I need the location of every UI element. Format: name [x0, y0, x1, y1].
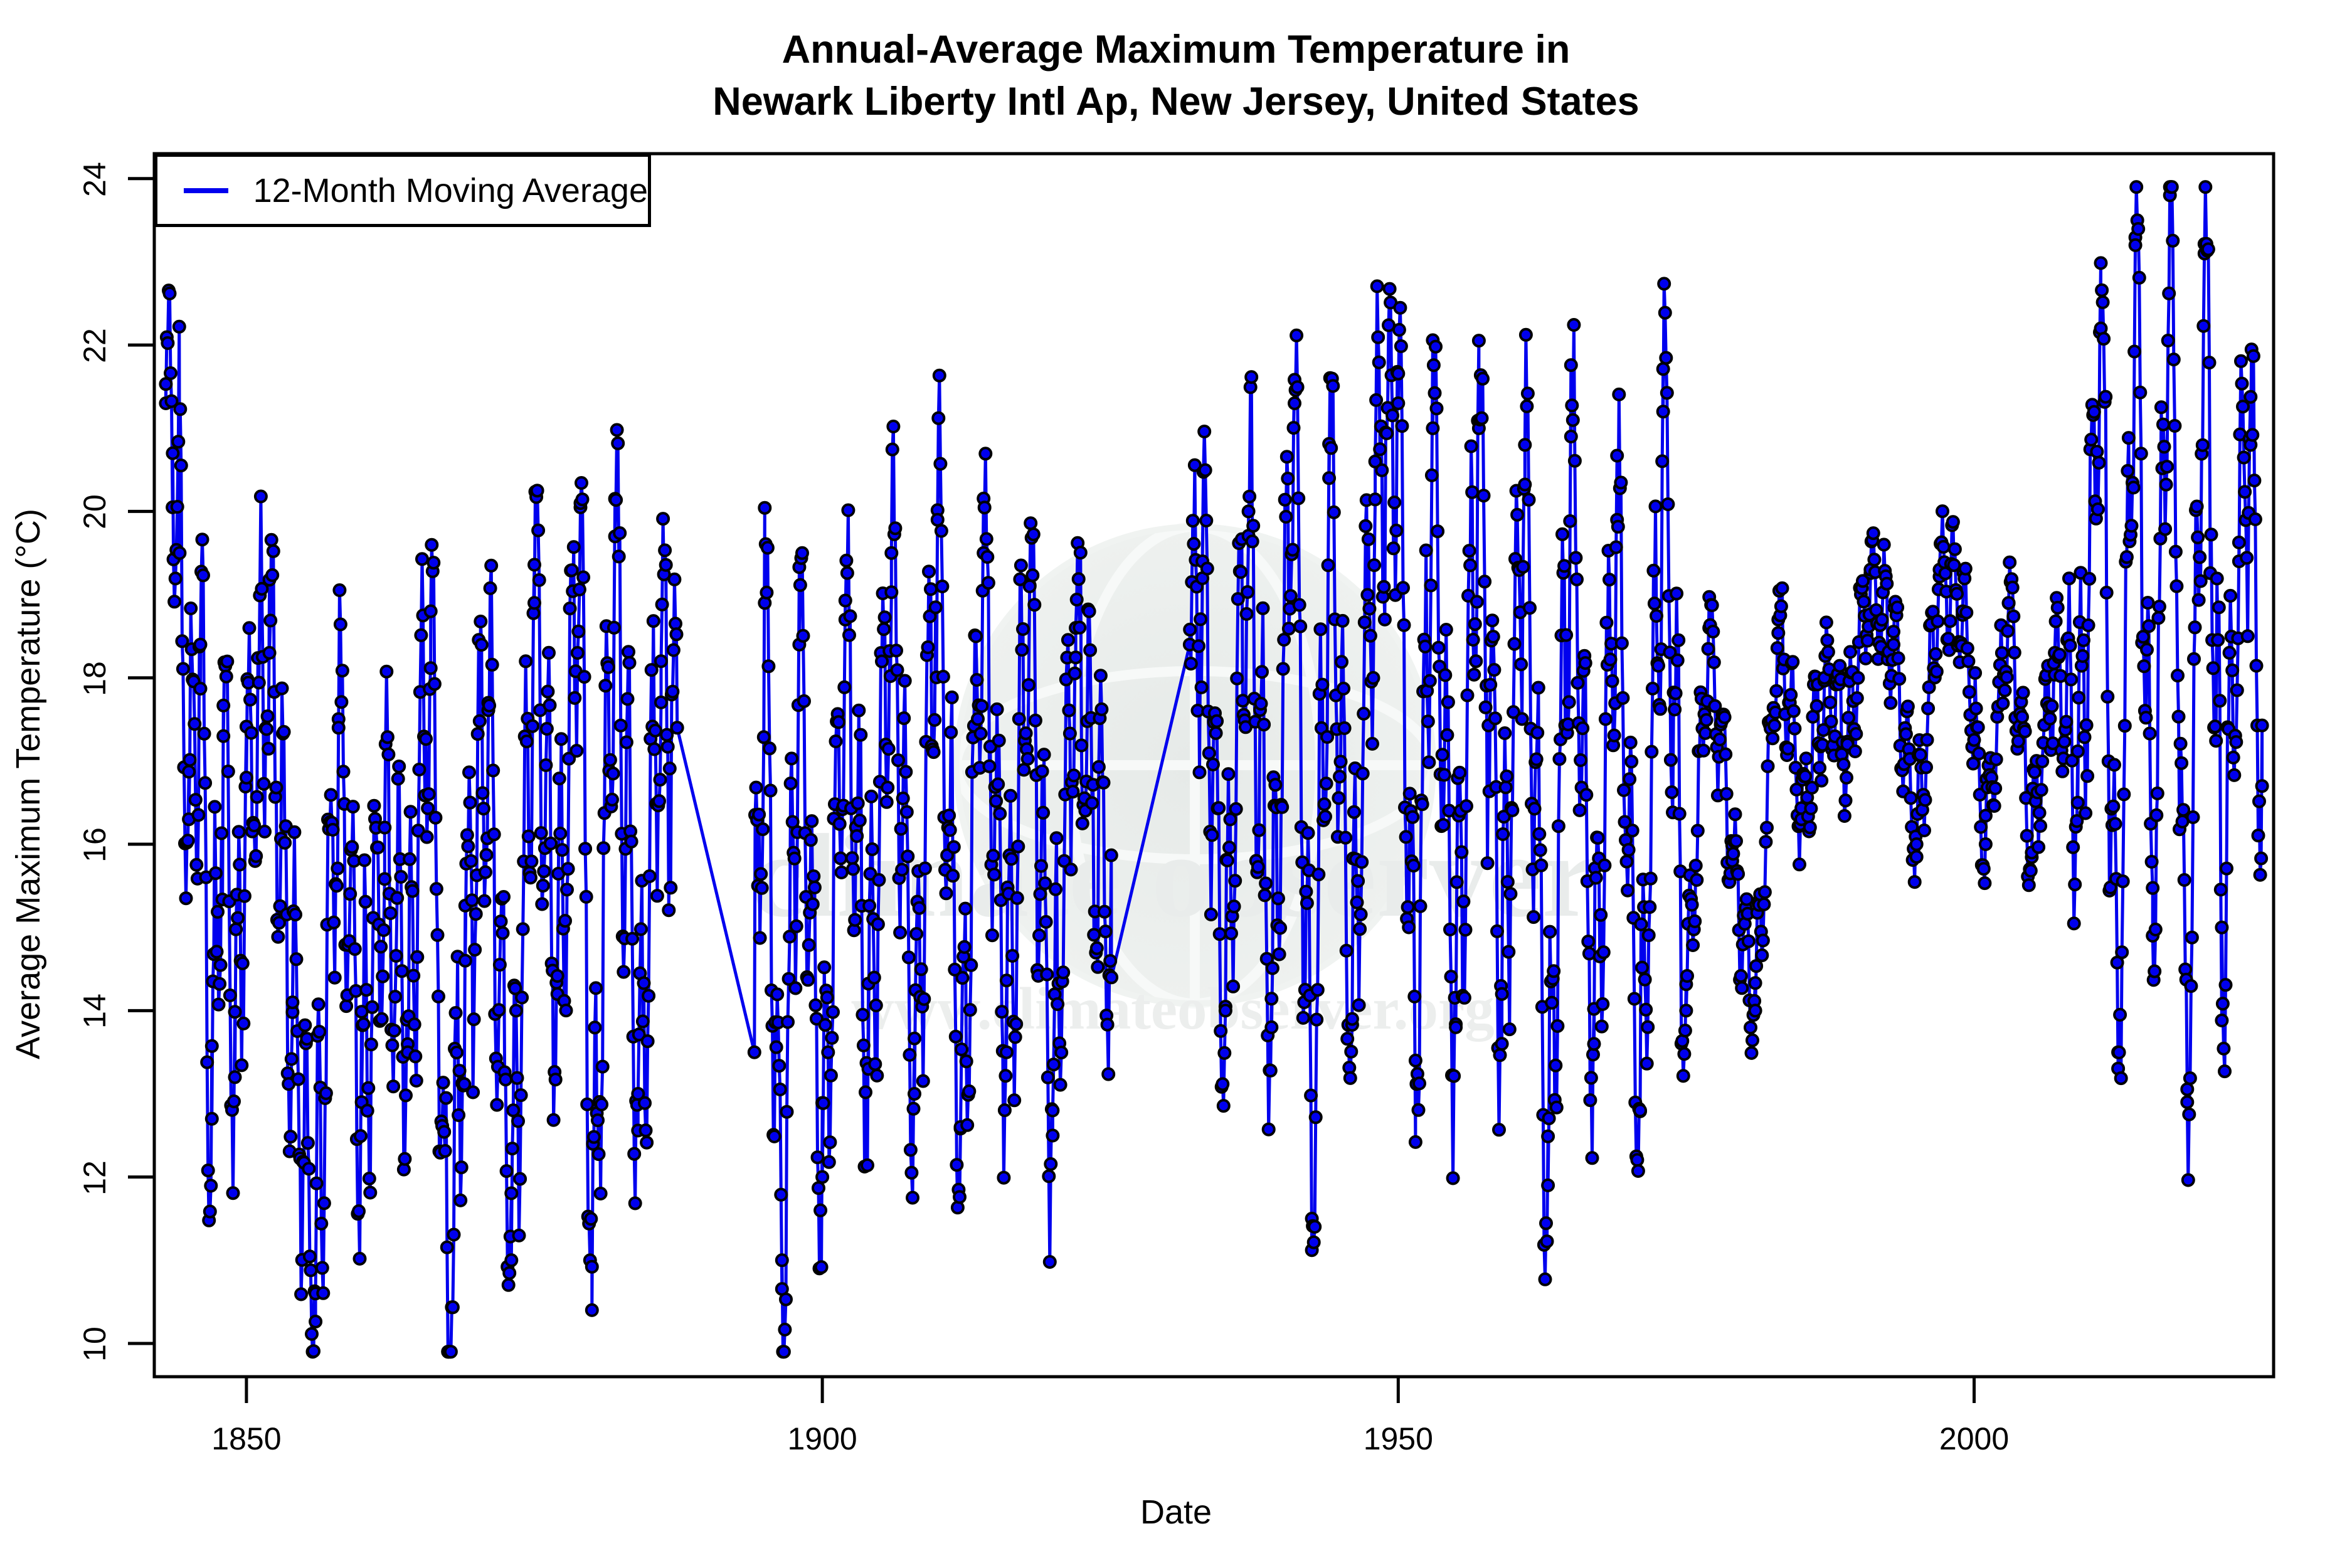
data-point — [1574, 805, 1586, 816]
data-point — [904, 1049, 915, 1061]
data-point — [825, 1070, 837, 1081]
data-point — [1478, 490, 1490, 501]
data-point — [1587, 1152, 1598, 1163]
data-point — [665, 882, 676, 893]
data-point — [1396, 341, 1407, 352]
data-point — [2082, 770, 2093, 781]
data-point — [1893, 652, 1904, 664]
data-point — [1345, 1073, 1356, 1084]
data-point — [267, 569, 278, 581]
data-point — [541, 723, 553, 734]
data-point — [410, 1051, 421, 1062]
data-point — [1613, 521, 1624, 532]
data-point — [600, 680, 611, 691]
y-axis-ticks — [128, 179, 154, 1343]
data-point — [589, 1022, 600, 1033]
data-point — [762, 542, 773, 553]
data-point — [1535, 844, 1546, 856]
data-point — [2194, 551, 2205, 563]
data-point — [319, 1197, 330, 1209]
data-point — [2167, 235, 2178, 246]
data-point — [827, 1007, 839, 1018]
data-point — [290, 909, 301, 920]
data-point — [1964, 686, 1975, 697]
data-point — [798, 696, 810, 707]
data-point — [1005, 790, 1016, 802]
data-point — [536, 899, 548, 910]
data-point — [295, 1289, 307, 1300]
data-point — [183, 766, 194, 777]
data-point — [597, 1061, 608, 1073]
data-point — [1407, 812, 1418, 823]
data-point — [268, 546, 279, 557]
data-point — [1415, 901, 1426, 912]
data-point — [479, 896, 490, 907]
data-point — [1569, 455, 1581, 467]
data-point — [903, 952, 914, 963]
data-point — [355, 1130, 366, 1142]
data-point — [1029, 599, 1040, 610]
data-point — [388, 1081, 399, 1092]
data-point — [1315, 623, 1326, 635]
data-point — [2203, 243, 2214, 255]
data-point — [266, 534, 277, 546]
data-point — [232, 913, 243, 924]
data-point — [209, 801, 220, 812]
data-point — [2254, 796, 2265, 807]
data-point — [252, 792, 263, 803]
data-point — [265, 615, 276, 626]
data-point — [2173, 711, 2185, 723]
data-point — [1260, 878, 1271, 889]
data-point — [2154, 601, 2165, 612]
data-point — [1305, 1090, 1316, 1101]
data-point — [1932, 616, 1943, 627]
data-point — [898, 712, 909, 724]
data-point — [842, 505, 854, 516]
data-point — [478, 803, 489, 814]
data-point — [918, 993, 930, 1005]
data-point — [303, 1163, 314, 1175]
data-point — [1544, 926, 1555, 938]
data-point — [2179, 874, 2190, 886]
data-point — [272, 931, 283, 943]
data-point — [1641, 1058, 1653, 1069]
data-point — [1888, 626, 1899, 637]
data-point — [1300, 886, 1311, 898]
data-point — [1451, 877, 1463, 888]
data-point — [1821, 617, 1832, 628]
data-point — [310, 1316, 321, 1327]
data-point — [1611, 450, 1623, 462]
data-point — [2023, 879, 2035, 891]
data-point — [1698, 745, 1709, 756]
data-point — [1656, 455, 1668, 467]
data-point — [1488, 664, 1500, 675]
data-point — [630, 1198, 641, 1209]
data-point — [336, 696, 347, 707]
data-point — [608, 768, 619, 779]
data-point — [1291, 330, 1302, 341]
data-point — [529, 559, 540, 570]
data-point — [453, 1110, 464, 1121]
data-point — [992, 779, 1004, 790]
data-point — [946, 692, 958, 703]
data-point — [979, 502, 990, 513]
data-point — [860, 1087, 871, 1098]
data-point — [2033, 842, 2044, 853]
data-point — [287, 997, 298, 1008]
data-point — [585, 1213, 596, 1224]
data-point — [833, 716, 844, 728]
data-point — [669, 574, 680, 585]
data-point — [1256, 698, 1267, 709]
data-point — [1552, 1020, 1563, 1032]
data-point — [2183, 1109, 2195, 1120]
data-point — [230, 1071, 241, 1083]
data-point — [421, 832, 433, 843]
data-point — [206, 1041, 218, 1052]
data-point — [2116, 946, 2127, 958]
data-point — [169, 596, 180, 607]
data-point — [526, 856, 537, 867]
data-point — [983, 761, 995, 772]
data-point — [469, 1014, 480, 1025]
legend-label: 12-Month Moving Average — [253, 171, 648, 210]
data-point — [2210, 735, 2222, 746]
data-point — [467, 1087, 479, 1098]
data-point — [1276, 802, 1288, 813]
data-point — [1730, 808, 1741, 820]
data-point — [588, 1131, 600, 1143]
data-point — [1850, 728, 1862, 739]
data-point — [765, 785, 776, 797]
data-point — [485, 583, 496, 594]
data-point — [2007, 582, 2018, 593]
data-point — [2210, 721, 2221, 732]
data-point — [2242, 630, 2254, 642]
data-point — [586, 1261, 598, 1273]
data-point — [2253, 830, 2264, 841]
data-point — [1750, 977, 1761, 988]
data-point — [1016, 644, 1027, 655]
data-point — [2195, 576, 2206, 587]
data-point — [886, 548, 897, 559]
data-point — [1077, 818, 1088, 829]
data-point — [506, 1188, 517, 1199]
data-point — [381, 666, 392, 677]
data-point — [1258, 603, 1269, 614]
data-point — [981, 533, 992, 544]
data-point — [998, 1172, 1009, 1184]
data-point — [755, 869, 766, 880]
data-point — [1482, 857, 1493, 869]
data-point — [2072, 797, 2084, 808]
data-point — [534, 575, 545, 586]
data-point — [1309, 1221, 1320, 1232]
data-point — [238, 1018, 249, 1029]
data-point — [1086, 797, 1098, 808]
data-point — [167, 448, 178, 459]
data-point — [462, 829, 473, 840]
data-point — [1335, 756, 1347, 767]
data-point — [1319, 798, 1330, 810]
data-point — [876, 656, 887, 667]
data-point — [199, 777, 211, 788]
data-point — [556, 733, 567, 744]
data-point — [1093, 761, 1104, 773]
data-point — [199, 728, 210, 739]
data-point — [641, 1137, 652, 1148]
data-point — [1039, 749, 1050, 760]
data-point — [1759, 886, 1771, 898]
data-point — [2192, 532, 2203, 543]
data-point — [426, 539, 437, 551]
data-point — [253, 677, 265, 688]
data-point — [1429, 388, 1441, 399]
data-point — [643, 990, 654, 1002]
data-point — [815, 1205, 826, 1216]
data-point — [1367, 738, 1378, 750]
data-point — [366, 1039, 377, 1050]
data-point — [1504, 1024, 1515, 1035]
data-point — [1741, 894, 1752, 905]
data-point — [185, 603, 196, 614]
data-point — [1476, 413, 1488, 424]
data-point — [2065, 640, 2076, 651]
data-point — [1076, 740, 1087, 751]
data-point — [1184, 624, 1195, 635]
data-point — [1811, 701, 1823, 712]
data-point — [755, 933, 766, 944]
data-point — [1480, 702, 1491, 713]
data-point — [2063, 573, 2075, 584]
data-point — [160, 378, 171, 389]
data-point — [404, 854, 415, 865]
data-point — [375, 941, 386, 952]
data-point — [1044, 1256, 1056, 1268]
data-point — [214, 978, 225, 990]
data-point — [1414, 1078, 1425, 1089]
data-point — [662, 741, 674, 753]
data-point — [1456, 847, 1467, 858]
data-point — [1020, 728, 1032, 739]
data-point — [2216, 1015, 2227, 1026]
data-point — [802, 974, 813, 985]
data-point — [500, 1074, 511, 1085]
data-point — [994, 808, 1005, 819]
data-point — [626, 836, 637, 847]
data-point — [480, 867, 491, 878]
data-point — [1195, 613, 1206, 625]
data-point — [1437, 749, 1448, 760]
data-point — [871, 1070, 882, 1081]
data-point — [667, 686, 678, 697]
data-point — [1439, 769, 1450, 780]
data-point — [1347, 1014, 1358, 1025]
data-point — [1338, 683, 1349, 694]
data-point — [790, 983, 801, 994]
data-point — [839, 682, 850, 693]
data-point — [894, 927, 906, 938]
data-point — [586, 1305, 598, 1316]
data-point — [213, 999, 225, 1010]
data-point — [918, 1076, 929, 1087]
data-point — [1364, 603, 1375, 615]
data-point — [847, 864, 859, 875]
data-point — [1598, 946, 1609, 958]
data-point — [2172, 670, 2183, 681]
data-point — [1851, 692, 1863, 704]
data-point — [184, 755, 196, 766]
data-point — [1325, 442, 1337, 453]
data-point — [1256, 666, 1268, 677]
data-point — [1604, 574, 1615, 585]
data-point — [2078, 635, 2089, 646]
data-point — [2143, 597, 2154, 608]
data-point — [851, 830, 862, 842]
data-point — [1458, 896, 1469, 907]
data-point — [399, 1153, 410, 1165]
data-point — [1868, 554, 1880, 565]
data-point — [1323, 559, 1334, 571]
data-point — [259, 826, 270, 837]
data-point — [2228, 752, 2239, 763]
data-point — [1692, 825, 1703, 837]
data-point — [197, 534, 208, 545]
data-point — [1287, 544, 1298, 556]
data-point — [363, 1083, 374, 1094]
data-point — [498, 891, 509, 903]
data-point — [930, 601, 941, 613]
data-point — [286, 1054, 297, 1065]
x-axis-ticks — [246, 1377, 1974, 1403]
data-point — [520, 655, 531, 667]
data-point — [2188, 654, 2200, 665]
data-point — [2171, 581, 2182, 592]
data-point — [1388, 543, 1399, 554]
data-point — [976, 701, 987, 712]
data-point — [1888, 639, 1899, 650]
data-point — [990, 795, 1002, 807]
data-point — [646, 664, 657, 675]
data-point — [1595, 909, 1606, 921]
data-point — [1905, 792, 1917, 803]
data-point — [225, 990, 236, 1001]
data-point — [779, 1324, 790, 1335]
data-point — [1465, 559, 1476, 571]
data-point — [472, 728, 484, 739]
data-point — [612, 425, 623, 436]
data-point — [1399, 620, 1410, 631]
data-point — [655, 774, 666, 785]
data-point — [2255, 869, 2266, 881]
data-point — [1497, 829, 1508, 840]
data-point — [1204, 748, 1215, 759]
data-point — [164, 288, 176, 299]
data-point — [420, 733, 432, 744]
data-point — [943, 810, 955, 821]
data-point — [1687, 899, 1698, 911]
data-point — [753, 809, 765, 820]
data-point — [1682, 970, 1693, 982]
data-point — [1246, 371, 1257, 383]
data-point — [1843, 712, 1854, 723]
data-point — [761, 587, 772, 598]
data-point — [2134, 387, 2146, 398]
data-point — [1522, 388, 1534, 399]
data-point — [203, 1165, 214, 1176]
data-point — [389, 991, 401, 1002]
data-point — [379, 822, 390, 834]
data-point — [1960, 563, 1971, 575]
data-point — [957, 972, 968, 983]
data-point — [2085, 434, 2097, 445]
data-point — [598, 842, 609, 854]
data-point — [1801, 753, 1812, 764]
data-point — [1426, 470, 1438, 481]
data-point — [2159, 441, 2170, 452]
data-point — [234, 859, 245, 871]
data-point — [1592, 832, 1604, 844]
data-point — [1224, 842, 1235, 853]
data-point — [1493, 1124, 1505, 1135]
data-point — [1274, 923, 1286, 934]
data-point — [1973, 722, 1984, 733]
data-point — [2083, 620, 2094, 631]
data-point — [590, 982, 601, 993]
data-point — [1273, 893, 1284, 904]
data-point — [409, 1019, 420, 1030]
data-point — [618, 967, 629, 978]
data-point — [1689, 916, 1700, 927]
data-point — [1241, 608, 1253, 620]
data-point — [1096, 704, 1107, 715]
data-point — [2257, 720, 2268, 731]
data-point — [824, 1136, 835, 1148]
data-point — [1374, 357, 1385, 368]
data-point — [1378, 581, 1389, 593]
data-point — [1443, 697, 1454, 708]
data-point — [359, 855, 370, 866]
data-point — [776, 1254, 788, 1266]
data-point — [648, 615, 659, 627]
data-point — [572, 647, 583, 659]
data-point — [1006, 853, 1017, 864]
data-point — [1648, 565, 1659, 576]
data-point — [893, 755, 904, 766]
data-point — [1014, 713, 1025, 724]
data-point — [650, 725, 661, 736]
data-point — [1479, 576, 1490, 587]
data-point — [1642, 1022, 1653, 1033]
data-point — [2248, 351, 2259, 362]
data-point — [1071, 594, 1083, 605]
data-point — [1342, 1033, 1353, 1044]
data-point — [1920, 794, 1931, 805]
data-point — [1095, 670, 1106, 681]
data-point — [757, 824, 768, 835]
data-point — [2016, 711, 2028, 723]
data-point — [503, 1279, 514, 1291]
data-point — [425, 662, 437, 674]
data-point — [1529, 803, 1540, 814]
data-point — [2129, 346, 2140, 358]
data-point — [571, 745, 582, 756]
data-point — [2245, 391, 2256, 403]
data-point — [230, 924, 241, 935]
data-point — [608, 622, 620, 633]
